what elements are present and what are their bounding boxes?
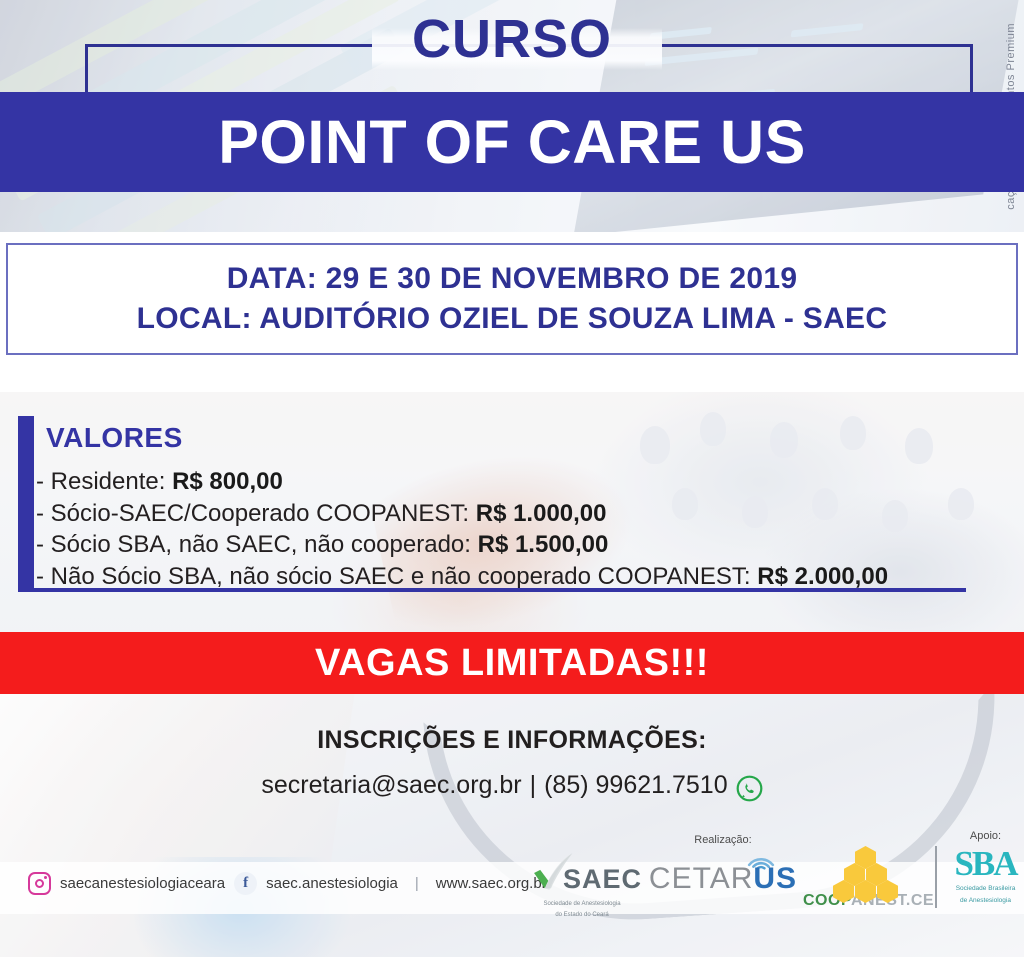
header-section: CURSO POINT OF CARE US [0, 0, 1024, 232]
contact-email[interactable]: secretaria@saec.org.br [261, 771, 521, 800]
event-location: LOCAL: AUDITÓRIO OZIEL DE SOUZA LIMA - S… [137, 299, 888, 339]
instagram-icon[interactable] [28, 872, 51, 895]
contact-details: secretaria@saec.org.br | (85) 99621.7510 [0, 771, 1024, 800]
page-title: POINT OF CARE US [218, 112, 806, 173]
contact-phone[interactable]: (85) 99621.7510 [544, 771, 727, 800]
apoio-label: Apoio: [947, 830, 1024, 842]
price-label: - Não Sócio SBA, não sócio SAEC e não co… [36, 563, 757, 590]
footer-separator: | [415, 875, 419, 892]
price-value: R$ 1.000,00 [476, 500, 607, 527]
price-value: R$ 1.500,00 [478, 531, 609, 558]
sba-subtitle-line1: Sociedade Brasileira [947, 884, 1024, 893]
price-row: - Sócio-SAEC/Cooperado COOPANEST: R$ 1.0… [36, 498, 976, 530]
prices-accent-bar [18, 416, 34, 588]
contact-section: INSCRIÇÕES E INFORMAÇÕES: secretaria@sae… [0, 726, 1024, 800]
prices-heading: VALORES [46, 422, 183, 454]
social-links: saecanestesiologiaceara f saec.anestesio… [28, 872, 547, 895]
date-location-box: DATA: 29 E 30 DE NOVEMBRO DE 2019 LOCAL:… [6, 243, 1018, 355]
sba-wordmark: SBA [947, 846, 1024, 881]
cetarus-word-blue: US [753, 862, 797, 895]
flyer-poster: cação - Sucesso Eventos Premium CURSO PO… [0, 0, 1024, 957]
saec-logo-mark: SAEC [523, 844, 641, 898]
price-label: - Sócio-SAEC/Cooperado COOPANEST: [36, 500, 476, 527]
sponsor-logos: SAEC Sociedade de Anestesiologia do Esta… [515, 828, 1024, 938]
prices-list: - Residente: R$ 800,00 - Sócio-SAEC/Coop… [36, 466, 976, 593]
logo-divider [935, 846, 937, 908]
facebook-icon[interactable]: f [234, 872, 257, 895]
whatsapp-icon[interactable] [736, 775, 763, 802]
price-label: - Residente: [36, 468, 172, 495]
facebook-handle[interactable]: saec.anestesiologia [266, 875, 398, 892]
instagram-handle[interactable]: saecanestesiologiaceara [60, 875, 225, 892]
kicker-curso: CURSO [0, 12, 1024, 66]
saec-subtitle-line2: do Estado do Ceará [523, 911, 641, 920]
contact-heading: INSCRIÇÕES E INFORMAÇÕES: [0, 726, 1024, 755]
prices-section: VALORES - Residente: R$ 800,00 - Sócio-S… [0, 408, 1024, 608]
price-row: - Sócio SBA, não SAEC, não cooperado: R$… [36, 529, 976, 561]
alert-text: VAGAS LIMITADAS!!! [315, 642, 709, 685]
alert-banner: VAGAS LIMITADAS!!! [0, 632, 1024, 694]
cetarus-word-gray: CETAR [649, 862, 753, 895]
prices-bottom-rule [18, 588, 966, 592]
cetarus-logo-block: Realização: CETARUS [643, 834, 803, 900]
price-value: R$ 2.000,00 [757, 563, 888, 590]
honeycomb-icon [803, 846, 928, 892]
saec-wordmark: SAEC [563, 864, 642, 895]
contact-separator: | [530, 771, 537, 800]
sba-subtitle-line2: de Anestesiologia [947, 896, 1024, 905]
price-row: - Residente: R$ 800,00 [36, 466, 976, 498]
sba-logo-block: Apoio: SBA Sociedade Brasileira de Anest… [947, 830, 1024, 905]
coopanest-logo: COOPANEST.CE [803, 846, 928, 910]
saec-subtitle-line1: Sociedade de Anestesiologia [523, 900, 641, 909]
title-band: POINT OF CARE US [0, 92, 1024, 192]
price-label: - Sócio SBA, não SAEC, não cooperado: [36, 531, 478, 558]
saec-logo: SAEC Sociedade de Anestesiologia do Esta… [523, 844, 641, 919]
realizacao-label: Realização: [643, 834, 803, 846]
cetarus-wordmark: CETARUS [643, 862, 803, 896]
event-date: DATA: 29 E 30 DE NOVEMBRO DE 2019 [227, 259, 798, 299]
price-value: R$ 800,00 [172, 468, 283, 495]
cetarus-logo: CETARUS [643, 850, 803, 900]
